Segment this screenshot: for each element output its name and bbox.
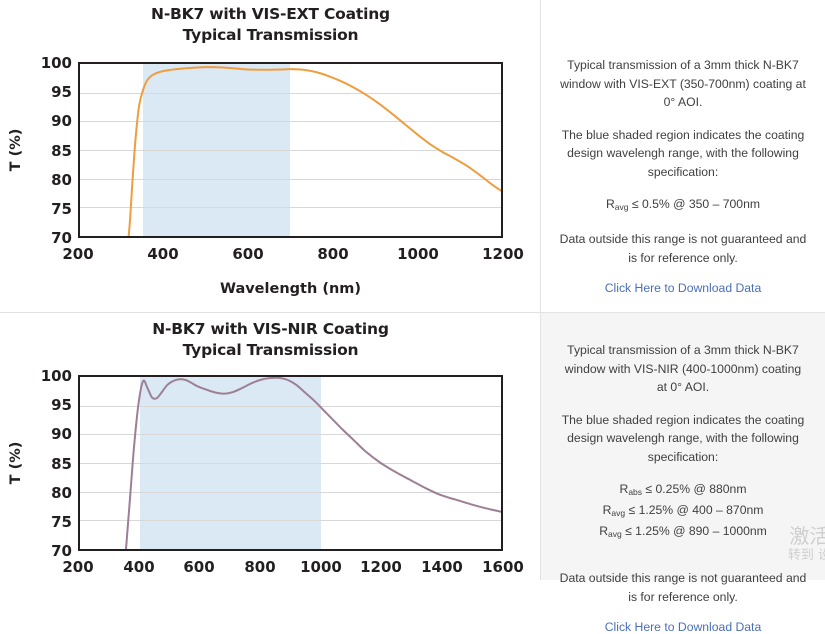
vis-ext-ytick-80: 80 bbox=[26, 171, 72, 189]
vis-ext-curve bbox=[80, 64, 501, 236]
transmission-spec-page: N-BK7 with VIS-EXT Coating Typical Trans… bbox=[0, 0, 825, 580]
vis-nir-xtick-1400: 1400 bbox=[412, 558, 472, 576]
vis-ext-xtick-400: 400 bbox=[133, 245, 193, 263]
vis-nir-ytick-90: 90 bbox=[26, 425, 72, 443]
vis-ext-ytick-75: 75 bbox=[26, 200, 72, 218]
vis-ext-ytick-95: 95 bbox=[26, 83, 72, 101]
vis-nir-description-3: Data outside this range is not guarantee… bbox=[559, 569, 807, 606]
vis-ext-xtick-600: 600 bbox=[218, 245, 278, 263]
vis-ext-title-line2: Typical Transmission bbox=[0, 25, 541, 46]
vis-nir-ytick-75: 75 bbox=[26, 513, 72, 531]
vis-nir-description-1: Typical transmission of a 3mm thick N-BK… bbox=[559, 341, 807, 397]
vis-ext-spec-rest-1: ≤ 0.5% @ 350 – 700nm bbox=[628, 197, 760, 211]
vis-ext-spec-line-1: Ravg ≤ 0.5% @ 350 – 700nm bbox=[559, 195, 807, 216]
vis-ext-plot-area bbox=[78, 62, 503, 238]
vis-nir-spec-rest-1: ≤ 0.25% @ 880nm bbox=[642, 482, 746, 496]
vis-nir-spec-symbol-3: R bbox=[599, 524, 608, 538]
vis-ext-xtick-1000: 1000 bbox=[388, 245, 448, 263]
vis-nir-xtick-200: 200 bbox=[48, 558, 108, 576]
vis-ext-xtick-800: 800 bbox=[303, 245, 363, 263]
vis-nir-y-axis-label: T (%) bbox=[8, 433, 24, 493]
vis-ext-x-axis-label: Wavelength (nm) bbox=[78, 281, 503, 297]
vis-ext-description-pane: Typical transmission of a 3mm thick N-BK… bbox=[541, 0, 825, 313]
vis-nir-title-line1: N-BK7 with VIS-NIR Coating bbox=[0, 319, 541, 340]
vis-ext-description-3: Data outside this range is not guarantee… bbox=[559, 230, 807, 267]
vis-nir-description-2: The blue shaded region indicates the coa… bbox=[559, 411, 807, 467]
vis-nir-section: N-BK7 with VIS-NIR Coating Typical Trans… bbox=[0, 313, 825, 580]
vis-nir-ytick-95: 95 bbox=[26, 396, 72, 414]
vis-ext-specification: Ravg ≤ 0.5% @ 350 – 700nm bbox=[559, 195, 807, 216]
vis-ext-section: N-BK7 with VIS-EXT Coating Typical Trans… bbox=[0, 0, 825, 313]
vis-nir-ytick-100: 100 bbox=[26, 367, 72, 385]
vis-nir-xtick-1200: 1200 bbox=[351, 558, 411, 576]
vis-ext-ytick-100: 100 bbox=[26, 54, 72, 72]
vis-nir-plot-area bbox=[78, 375, 503, 551]
vis-ext-xtick-200: 200 bbox=[48, 245, 108, 263]
vis-ext-spec-subscript-1: avg bbox=[615, 202, 629, 212]
vis-nir-download-link[interactable]: Click Here to Download Data bbox=[559, 620, 807, 634]
vis-ext-y-axis-label: T (%) bbox=[8, 120, 24, 180]
vis-nir-spec-subscript-1: abs bbox=[628, 487, 642, 497]
vis-nir-spec-subscript-3: avg bbox=[608, 529, 622, 539]
vis-nir-curve bbox=[80, 377, 501, 549]
vis-nir-xtick-400: 400 bbox=[109, 558, 169, 576]
vis-nir-spec-symbol-1: R bbox=[620, 482, 629, 496]
vis-nir-title-line2: Typical Transmission bbox=[0, 340, 541, 361]
vis-nir-ytick-85: 85 bbox=[26, 455, 72, 473]
vis-nir-spec-rest-3: ≤ 1.25% @ 890 – 1000nm bbox=[622, 524, 767, 538]
vis-ext-description-1: Typical transmission of a 3mm thick N-BK… bbox=[559, 56, 807, 112]
vis-nir-spec-rest-2: ≤ 1.25% @ 400 – 870nm bbox=[625, 503, 763, 517]
vis-nir-ytick-80: 80 bbox=[26, 484, 72, 502]
vis-nir-spec-line-1: Rabs ≤ 0.25% @ 880nm bbox=[559, 480, 807, 501]
vis-nir-spec-subscript-2: avg bbox=[611, 508, 625, 518]
vis-nir-xtick-800: 800 bbox=[230, 558, 290, 576]
vis-nir-description-pane: Typical transmission of a 3mm thick N-BK… bbox=[541, 313, 825, 580]
vis-ext-description-2: The blue shaded region indicates the coa… bbox=[559, 126, 807, 182]
watermark-line-2: 转到 设 bbox=[788, 548, 825, 564]
vis-nir-spec-line-2: Ravg ≤ 1.25% @ 400 – 870nm bbox=[559, 501, 807, 522]
vis-nir-xtick-600: 600 bbox=[169, 558, 229, 576]
vis-ext-ytick-90: 90 bbox=[26, 112, 72, 130]
vis-nir-xtick-1000: 1000 bbox=[291, 558, 351, 576]
vis-ext-ytick-85: 85 bbox=[26, 142, 72, 160]
vis-nir-xtick-1600: 1600 bbox=[473, 558, 533, 576]
vis-ext-spec-symbol-1: R bbox=[606, 197, 615, 211]
vis-nir-spec-line-3: Ravg ≤ 1.25% @ 890 – 1000nm bbox=[559, 522, 807, 543]
vis-nir-specification: Rabs ≤ 0.25% @ 880nm Ravg ≤ 1.25% @ 400 … bbox=[559, 480, 807, 543]
vis-ext-chart-pane: N-BK7 with VIS-EXT Coating Typical Trans… bbox=[0, 0, 541, 313]
vis-nir-chart-pane: N-BK7 with VIS-NIR Coating Typical Trans… bbox=[0, 313, 541, 580]
vis-ext-title-line1: N-BK7 with VIS-EXT Coating bbox=[0, 4, 541, 25]
vis-ext-xtick-1200: 1200 bbox=[473, 245, 533, 263]
vis-ext-chart-title: N-BK7 with VIS-EXT Coating Typical Trans… bbox=[0, 4, 541, 46]
vis-nir-chart-title: N-BK7 with VIS-NIR Coating Typical Trans… bbox=[0, 319, 541, 361]
vis-ext-download-link[interactable]: Click Here to Download Data bbox=[559, 281, 807, 295]
